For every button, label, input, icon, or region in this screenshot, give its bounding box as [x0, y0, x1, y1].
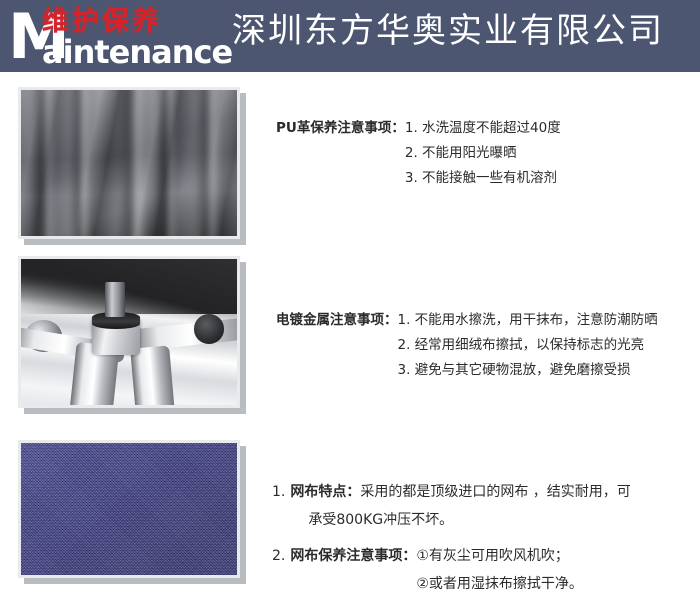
pu-leather-text-block: PU革保养注意事项： 1. 水洗温度不能超过40度 2. 不能用阳光曝晒 3. … — [276, 116, 561, 191]
photo-frame — [18, 256, 240, 408]
blue-mesh-photo — [18, 440, 240, 578]
pu-leather-photo — [18, 87, 240, 239]
photo-frame — [18, 87, 240, 239]
list-item: 1. 不能用水擦洗，用干抹布，注意防潮防晒 — [398, 308, 658, 333]
mesh-care-number: 2. — [272, 542, 285, 570]
chrome-metal-label: 电镀金属注意事项： — [276, 308, 398, 333]
list-item: 2. 不能用阳光曝晒 — [405, 141, 561, 166]
photo-image-chrome-base — [21, 259, 237, 405]
page-header: M 维护保养 aintenance 深圳东方华奥实业有限公司 — [0, 0, 700, 72]
mesh-feature-lines: 采用的都是顶级进口的网布 ，结实耐用，可 承受800KG冲压不坏。 — [360, 478, 630, 534]
company-name: 深圳东方华奥实业有限公司 — [232, 8, 664, 54]
text-line: ②或者用湿抹布擦拭干净。 — [416, 570, 583, 598]
photo-image-pu-leather — [21, 90, 237, 236]
pu-leather-label: PU革保养注意事项： — [276, 116, 405, 141]
list-item: 1. 水洗温度不能超过40度 — [405, 116, 561, 141]
mesh-feature-group: 1. 网布特点： 采用的都是顶级进口的网布 ，结实耐用，可 承受800KG冲压不… — [272, 478, 631, 534]
chrome-metal-text-block: 电镀金属注意事项： 1. 不能用水擦洗，用干抹布，注意防潮防晒 2. 经常用细绒… — [276, 308, 658, 383]
list-item: 3. 不能接触一些有机溶剂 — [405, 166, 561, 191]
logo-english-title: aintenance — [42, 35, 232, 69]
brand-logo: M 维护保养 aintenance — [6, 2, 236, 70]
pu-leather-item-list: 1. 水洗温度不能超过40度 2. 不能用阳光曝晒 3. 不能接触一些有机溶剂 — [405, 116, 561, 191]
logo-chinese-title: 维护保养 — [42, 7, 162, 36]
mesh-care-label: 网布保养注意事项： — [290, 542, 416, 570]
chrome-metal-item-list: 1. 不能用水擦洗，用干抹布，注意防潮防晒 2. 经常用细绒布擦拭，以保持标志的… — [398, 308, 658, 383]
text-line: 采用的都是顶级进口的网布 ，结实耐用，可 — [360, 478, 630, 506]
mesh-care-lines: ①有灰尘可用吹风机吹； ②或者用湿抹布擦拭干净。 — [416, 542, 583, 598]
mesh-text-block: 1. 网布特点： 采用的都是顶级进口的网布 ，结实耐用，可 承受800KG冲压不… — [272, 478, 631, 598]
text-line: 承受800KG冲压不坏。 — [308, 506, 630, 534]
mesh-feature-label: 网布特点： — [290, 478, 360, 506]
photo-frame — [18, 440, 240, 578]
photo-image-blue-mesh — [21, 443, 237, 575]
mesh-feature-number: 1. — [272, 478, 285, 506]
list-item: 3. 避免与其它硬物混放，避免磨擦受损 — [398, 358, 658, 383]
chrome-base-photo — [18, 256, 240, 408]
list-item: 2. 经常用细绒布擦拭，以保持标志的光亮 — [398, 333, 658, 358]
text-line: ①有灰尘可用吹风机吹； — [416, 542, 583, 570]
mesh-care-group: 2. 网布保养注意事项： ①有灰尘可用吹风机吹； ②或者用湿抹布擦拭干净。 — [272, 542, 631, 598]
